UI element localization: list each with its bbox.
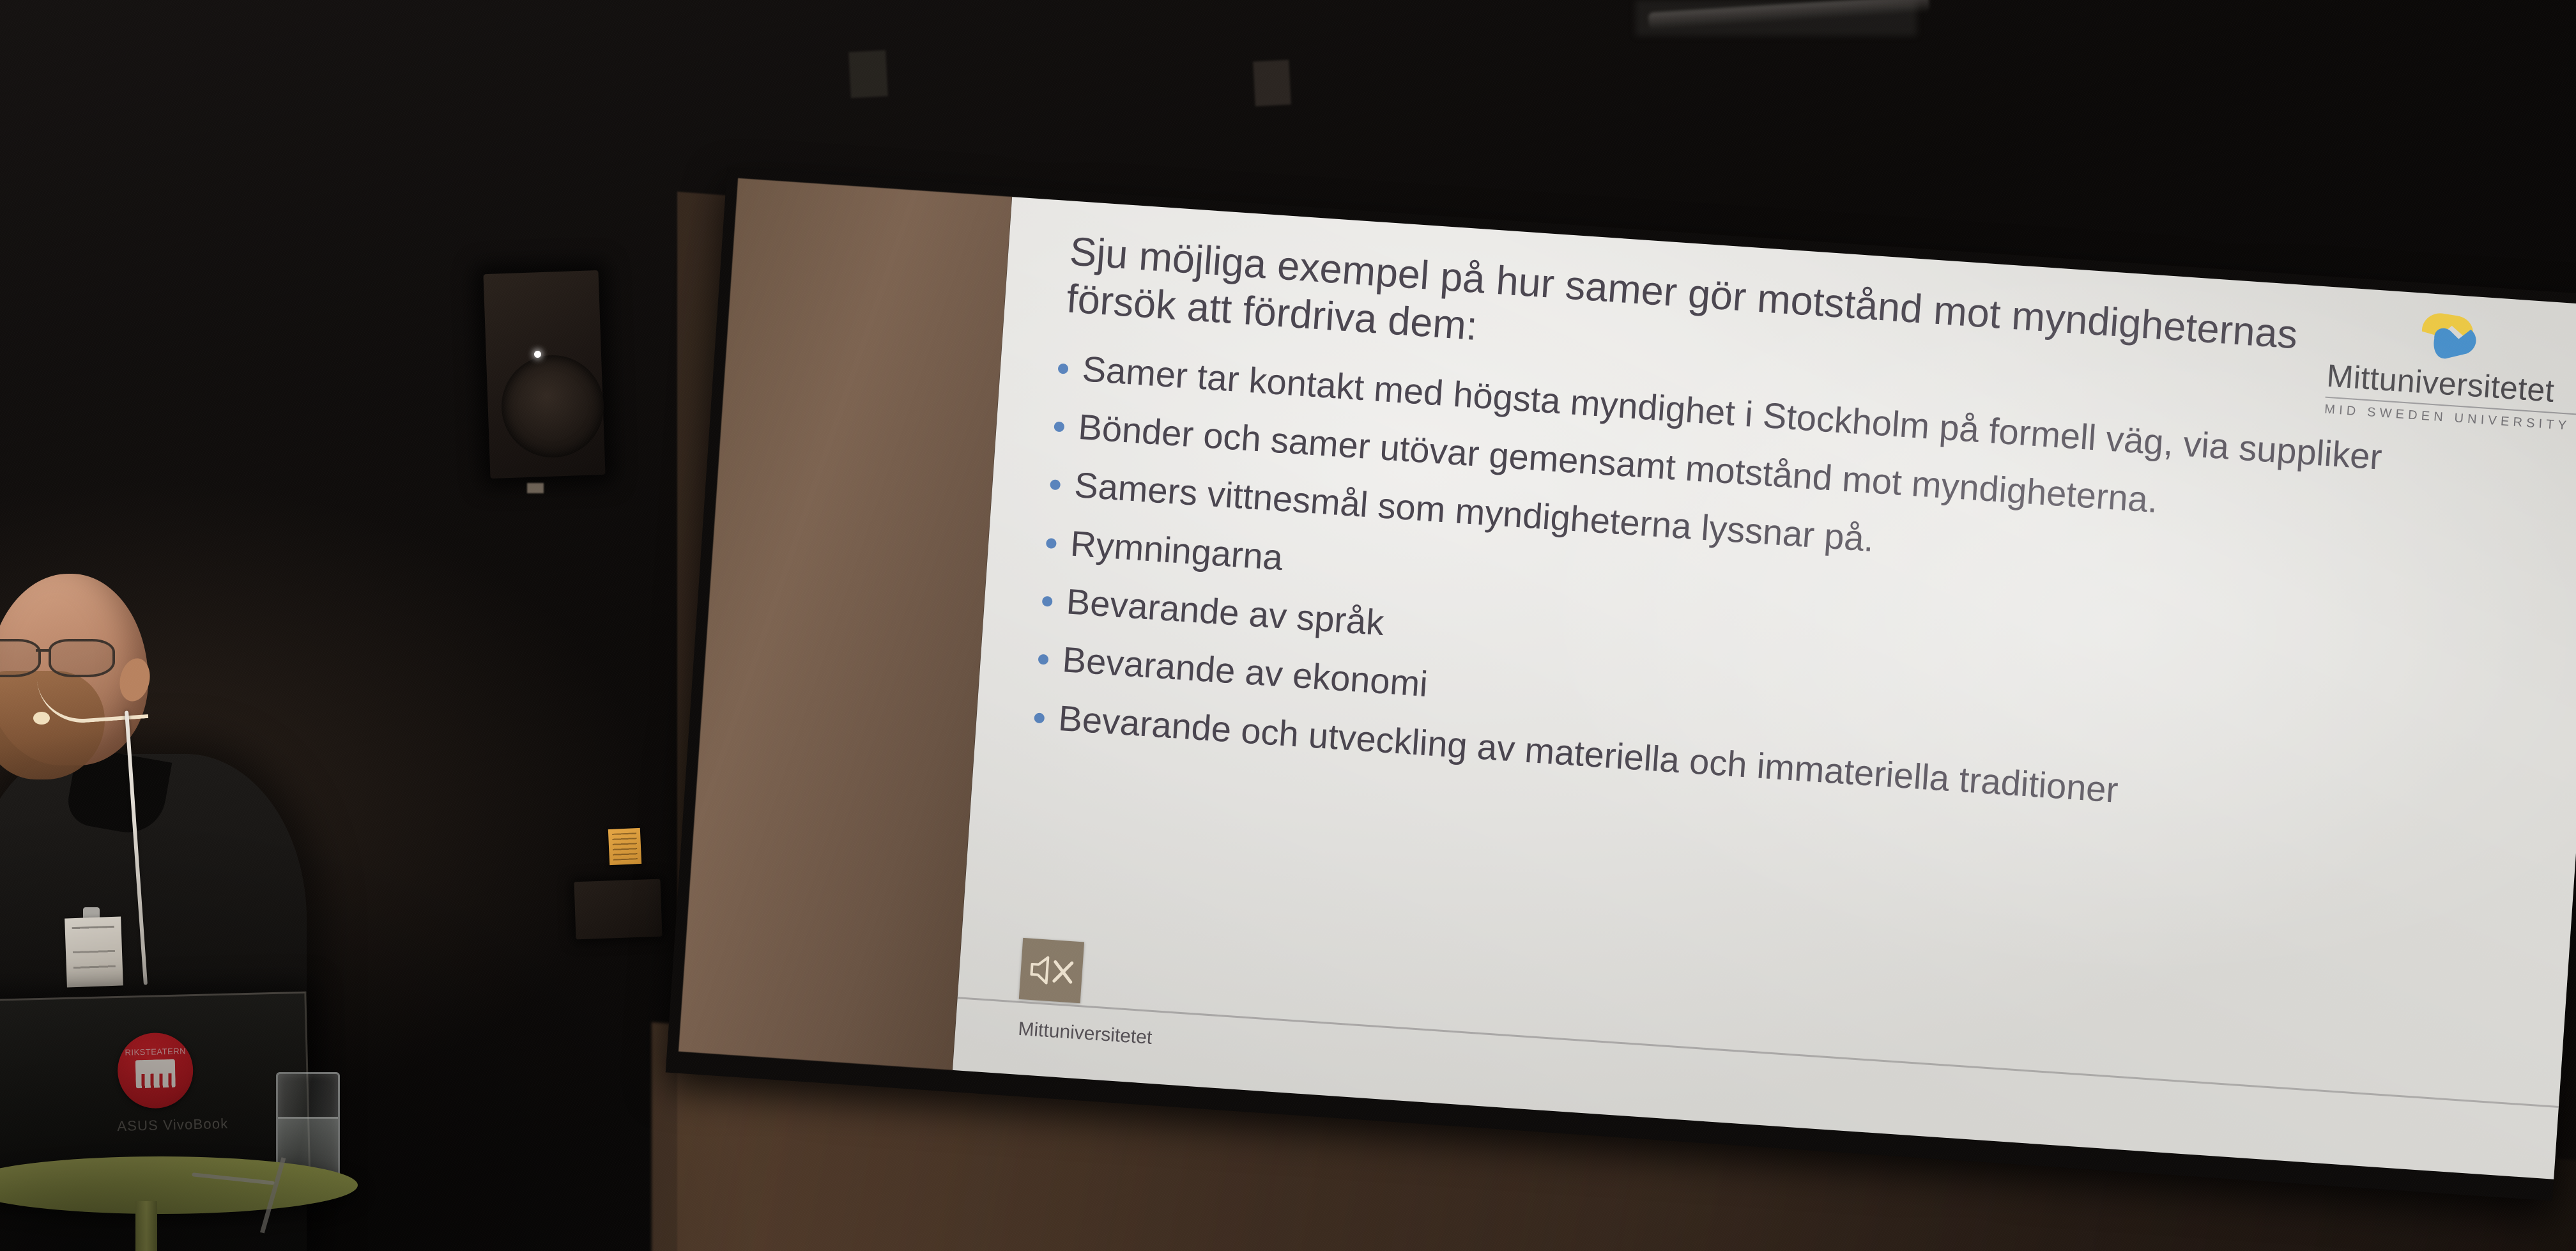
bullet-dot-icon (1046, 538, 1057, 549)
headset-microphone-capsule (33, 712, 50, 725)
list-item-text: Bevarande av ekonomi (1061, 639, 1429, 704)
list-item-text: Rymningarna (1069, 523, 1284, 578)
presentation-slide: Mittuniversitetet MID SWEDEN UNIVERSITY … (953, 197, 2576, 1179)
bullet-dot-icon (1058, 363, 1069, 374)
bullet-dot-icon (1042, 596, 1053, 607)
loudspeaker-led (534, 351, 541, 358)
slide-bullet-list: Samer tar kontakt med högsta myndighet i… (1032, 345, 2576, 842)
laptop-sticker-text: RIKSTEATERN (125, 1046, 185, 1057)
speaker-muted-icon[interactable] (1019, 938, 1084, 1003)
loudspeaker-badge (527, 483, 544, 493)
bullet-dot-icon (1050, 479, 1061, 490)
eyeglasses-icon (0, 639, 133, 675)
bullet-dot-icon (1034, 712, 1045, 723)
eyeglass-bridge (36, 649, 50, 652)
photo-scene: Mittuniversitetet MID SWEDEN UNIVERSITY … (0, 0, 2576, 1251)
university-logo: Mittuniversitetet MID SWEDEN UNIVERSITY (2324, 301, 2576, 438)
name-badge-handwriting (72, 926, 116, 978)
name-badge (65, 916, 123, 987)
wall-notice-sign-text-lines (612, 833, 638, 861)
laptop-sticker: RIKSTEATERN (117, 1032, 194, 1109)
laptop-brand-text: ASUS VivoBook (117, 1116, 229, 1135)
laptop-sticker-glyph-icon (135, 1059, 176, 1089)
eyeglass-lens-right (49, 639, 115, 677)
wall-notice-sign (608, 828, 641, 865)
side-table-leg (135, 1201, 157, 1251)
wall-vent-right (1253, 60, 1291, 107)
loudspeaker-cone (502, 355, 604, 457)
mountain-chevron-logo-icon (2410, 307, 2490, 367)
projection-screen: Mittuniversitetet MID SWEDEN UNIVERSITY … (666, 167, 2576, 1201)
bullet-dot-icon (1054, 421, 1064, 432)
slide-footer-text: Mittuniversitetet (1017, 1018, 1153, 1049)
eyeglass-lens-left (0, 639, 41, 677)
wall-vent-left (848, 50, 888, 98)
list-item-text: Bevarande av språk (1065, 581, 1385, 643)
wall-equipment-panel (574, 879, 662, 940)
bullet-dot-icon (1038, 654, 1048, 665)
